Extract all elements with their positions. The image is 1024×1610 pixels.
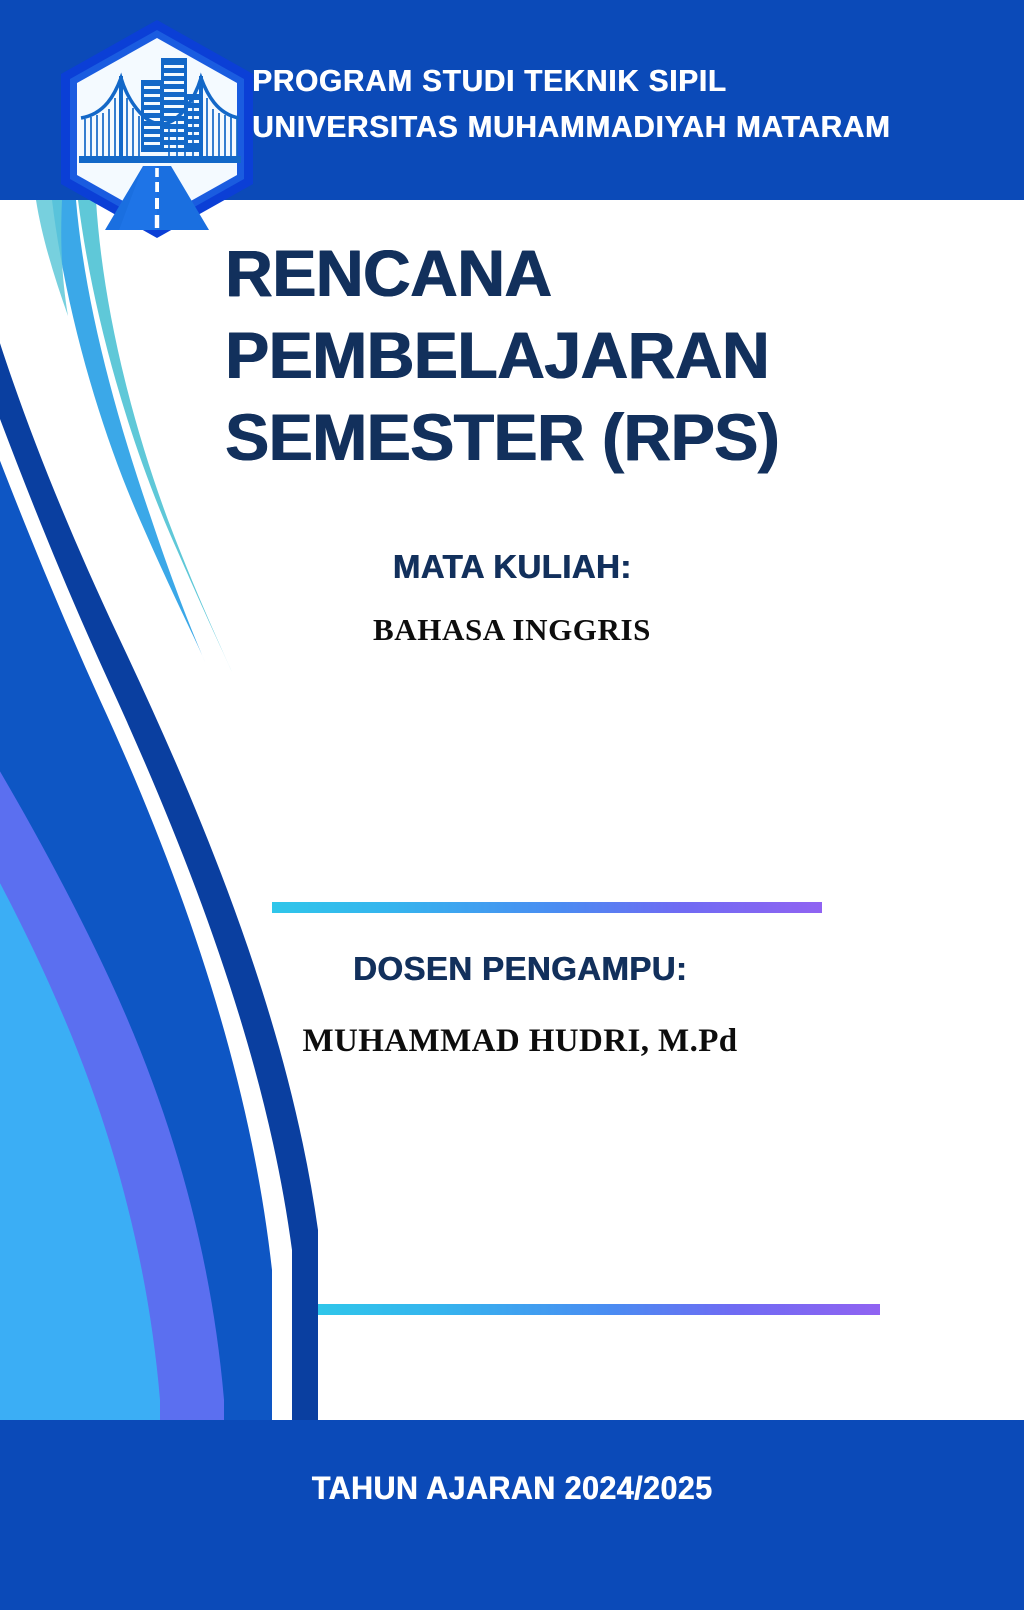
divider-gradient-bottom	[318, 1304, 880, 1315]
page-title: RENCANA PEMBELAJARAN SEMESTER (RPS)	[225, 232, 885, 478]
road-dashes	[155, 168, 159, 228]
wave-sky-blue	[0, 690, 160, 1440]
course-block: MATA KULIAH: BAHASA INGGRIS	[140, 548, 884, 648]
header-institution-text: PROGRAM STUDI TEKNIK SIPIL UNIVERSITAS M…	[252, 58, 917, 150]
program-studi-line: PROGRAM STUDI TEKNIK SIPIL	[252, 58, 891, 104]
divider-gradient-top	[272, 902, 822, 913]
university-logo	[57, 18, 257, 240]
lecturer-block: DOSEN PENGAMPU: MUHAMMAD HUDRI, M.Pd	[140, 950, 900, 1060]
course-label: MATA KULIAH:	[140, 548, 884, 586]
title-line-3: SEMESTER (RPS)	[225, 396, 885, 478]
lecturer-label: DOSEN PENGAMPU:	[140, 950, 900, 988]
course-name: BAHASA INGGRIS	[140, 612, 884, 648]
civil-engineering-hexagon-logo	[57, 18, 257, 240]
universitas-line: UNIVERSITAS MUHAMMADIYAH MATARAM	[252, 104, 891, 150]
title-line-1: RENCANA	[225, 232, 885, 314]
lecturer-name: MUHAMMAD HUDRI, M.Pd	[140, 1023, 900, 1060]
academic-year: TAHUN AJARAN 2024/2025	[26, 1470, 999, 1507]
footer-band	[0, 1420, 1024, 1610]
cover-page: PROGRAM STUDI TEKNIK SIPIL UNIVERSITAS M…	[0, 0, 1024, 1610]
title-line-2: PEMBELAJARAN	[225, 314, 885, 396]
